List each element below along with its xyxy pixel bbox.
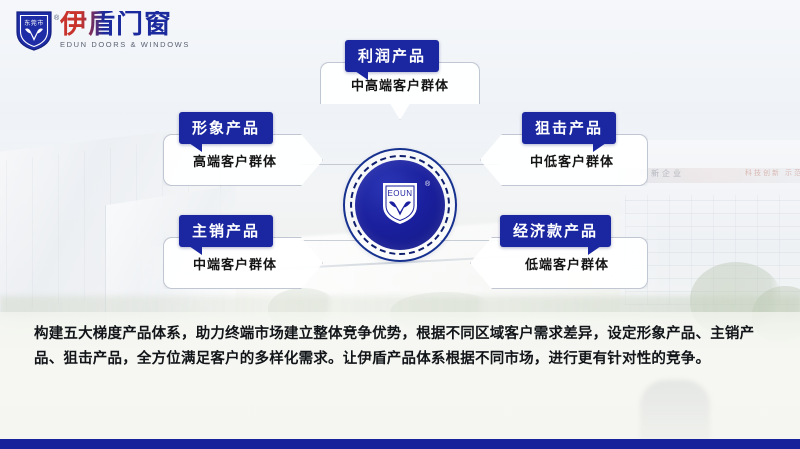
callout-tab-label: 形象产品 — [179, 112, 273, 144]
callout-profit-product[interactable]: 利润产品 中高端客户群体 — [320, 40, 480, 120]
emblem-registered-mark-icon: ® — [425, 181, 430, 188]
callout-main-product[interactable]: 主销产品 中端客户群体 — [163, 215, 323, 289]
registered-mark-icon: ® — [54, 15, 59, 22]
callout-tab-label: 利润产品 — [345, 40, 439, 72]
callout-economy-product[interactable]: 经济款产品 低端客户群体 — [470, 215, 648, 289]
callout-image-product[interactable]: 形象产品 高端客户群体 — [163, 112, 323, 186]
brand-name-cn: 伊盾门窗 — [60, 11, 190, 38]
brand-name-en: EDUN DOORS & WINDOWS — [60, 41, 190, 49]
callout-tab-label: 狙击产品 — [522, 112, 616, 144]
background-figure-silhouette — [640, 380, 710, 442]
shield-logo-icon: 东莞市 ® — [14, 8, 54, 52]
brand-wordmark: 伊盾门窗 EDUN DOORS & WINDOWS — [60, 11, 190, 49]
center-brand-emblem: EOUN ® — [343, 148, 457, 262]
svg-text:东莞市: 东莞市 — [24, 19, 44, 27]
bottom-accent-bar — [0, 439, 800, 449]
slide-canvas: 特新企业 科技创新 示范基地 东莞市 ® 伊盾门窗 EDUN DOORS & W… — [0, 0, 800, 449]
summary-paragraph: 构建五大梯度产品体系，助力终端市场建立整体竞争优势，根据不同区域客户需求差异，设… — [34, 322, 774, 372]
background-sign-text-secondary: 科技创新 示范基地 — [745, 168, 800, 178]
callout-tab-label: 主销产品 — [179, 215, 273, 247]
brand-logo: 东莞市 ® 伊盾门窗 EDUN DOORS & WINDOWS — [14, 8, 190, 52]
callout-sniper-product[interactable]: 狙击产品 中低客户群体 — [480, 112, 648, 186]
emblem-wordmark: EOUN — [387, 189, 412, 198]
emblem-shield-icon: EOUN — [381, 180, 419, 226]
callout-tab-label: 经济款产品 — [500, 215, 611, 247]
